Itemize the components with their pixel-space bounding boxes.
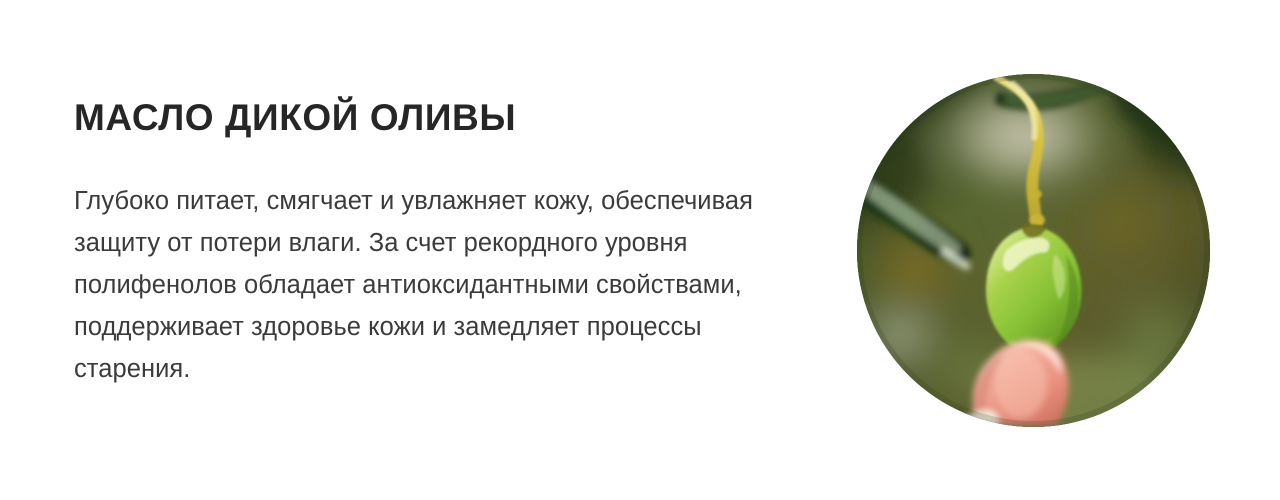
text-column: МАСЛО ДИКОЙ ОЛИВЫ Глубоко питает, смягча… [74,96,804,390]
page-title: МАСЛО ДИКОЙ ОЛИВЫ [74,96,804,140]
description-text: Глубоко питает, смягчает и увлажняет кож… [74,140,784,390]
olive-photo-container [857,74,1210,427]
olive-photo [857,74,1210,427]
product-banner: МАСЛО ДИКОЙ ОЛИВЫ Глубоко питает, смягча… [0,0,1280,500]
